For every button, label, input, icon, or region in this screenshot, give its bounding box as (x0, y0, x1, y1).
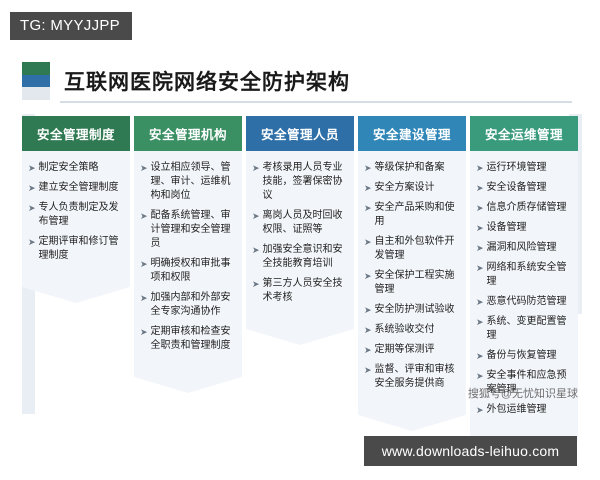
list-item: ➤安全设备管理 (476, 181, 572, 195)
list-item-label: 配备系统管理、审计管理和安全管理员 (151, 209, 236, 251)
chevron-right-icon: ➤ (364, 303, 372, 317)
title-color-mark-icon (22, 62, 50, 100)
column-header: 安全管理机构 (134, 116, 242, 151)
list-item-label: 恶意代码防范管理 (487, 295, 572, 309)
chevron-right-icon: ➤ (364, 201, 372, 215)
column-header: 安全运维管理 (470, 116, 578, 151)
list-item: ➤考核录用人员专业技能，签署保密协议 (252, 161, 348, 203)
chevron-right-icon: ➤ (364, 181, 372, 195)
column-security-management-system: 安全管理制度 ➤制定安全策略 ➤建立安全管理制度 ➤专人负责制定及发布管理 ➤定… (22, 116, 130, 457)
source-credit: 搜狐号@无忧知识星球 (468, 385, 578, 401)
list-item: ➤安全保护工程实施管理 (364, 269, 460, 297)
list-item: ➤加强内部和外部安全专家沟通协作 (140, 291, 236, 319)
list-item: ➤设立相应领导、管理、审计、运维机构和岗位 (140, 161, 236, 203)
list-item-label: 监督、评审和审核安全服务提供商 (375, 363, 460, 391)
list-item-label: 外包运维管理 (487, 403, 572, 417)
list-item: ➤信息介质存储管理 (476, 201, 572, 215)
chevron-right-icon: ➤ (476, 221, 484, 235)
chevron-right-icon: ➤ (476, 403, 484, 417)
list-item-label: 专人负责制定及发布管理 (39, 201, 124, 229)
chevron-right-icon: ➤ (140, 209, 148, 223)
list-item: ➤定期审核和检查安全职责和管理制度 (140, 325, 236, 353)
chevron-right-icon: ➤ (252, 277, 260, 291)
chevron-right-icon: ➤ (364, 269, 372, 283)
column-security-construction-management: 安全建设管理 ➤等级保护和备案 ➤安全方案设计 ➤安全产品采购和使用 ➤自主和外… (358, 116, 466, 457)
list-item: ➤定期等保测评 (364, 343, 460, 357)
chevron-right-icon: ➤ (364, 343, 372, 357)
chevron-right-icon: ➤ (252, 161, 260, 175)
list-item: ➤加强安全意识和安全技能教育培训 (252, 243, 348, 271)
chevron-right-icon: ➤ (28, 181, 36, 195)
list-item: ➤漏洞和风险管理 (476, 241, 572, 255)
chevron-right-icon: ➤ (140, 161, 148, 175)
list-item-label: 系统验收交付 (375, 323, 460, 337)
column-body: ➤设立相应领导、管理、审计、运维机构和岗位 ➤配备系统管理、审计管理和安全管理员… (134, 151, 242, 377)
list-item-label: 安全防护测试验收 (375, 303, 460, 317)
chevron-right-icon: ➤ (364, 161, 372, 175)
list-item-label: 制定安全策略 (39, 161, 124, 175)
chevron-right-icon: ➤ (364, 323, 372, 337)
list-item-label: 定期审核和检查安全职责和管理制度 (151, 325, 236, 353)
list-item-label: 安全产品采购和使用 (375, 201, 460, 229)
list-item-label: 建立安全管理制度 (39, 181, 124, 195)
chevron-right-icon: ➤ (28, 201, 36, 215)
title-divider (60, 101, 572, 103)
chevron-right-icon: ➤ (140, 257, 148, 271)
list-item-label: 网络和系统安全管理 (487, 261, 572, 289)
page-title: 互联网医院网络安全防护架构 (64, 66, 350, 96)
list-item-label: 设备管理 (487, 221, 572, 235)
list-item: ➤配备系统管理、审计管理和安全管理员 (140, 209, 236, 251)
chevron-right-icon: ➤ (476, 261, 484, 275)
list-item: ➤安全防护测试验收 (364, 303, 460, 317)
chevron-right-icon: ➤ (476, 369, 484, 383)
list-item-label: 备份与恢复管理 (487, 349, 572, 363)
list-item-label: 漏洞和风险管理 (487, 241, 572, 255)
list-item-label: 加强内部和外部安全专家沟通协作 (151, 291, 236, 319)
list-item-label: 考核录用人员专业技能，签署保密协议 (263, 161, 348, 203)
list-item-label: 系统、变更配置管理 (487, 315, 572, 343)
chevron-right-icon: ➤ (252, 243, 260, 257)
list-item-label: 设立相应领导、管理、审计、运维机构和岗位 (151, 161, 236, 203)
list-item: ➤专人负责制定及发布管理 (28, 201, 124, 229)
architecture-columns: 安全管理制度 ➤制定安全策略 ➤建立安全管理制度 ➤专人负责制定及发布管理 ➤定… (22, 116, 578, 457)
list-item: ➤外包运维管理 (476, 403, 572, 417)
chevron-right-icon: ➤ (476, 315, 484, 329)
chevron-right-icon: ➤ (252, 209, 260, 223)
column-arrow-point (246, 329, 354, 345)
chevron-right-icon: ➤ (364, 363, 372, 377)
list-item-label: 运行环境管理 (487, 161, 572, 175)
list-item: ➤设备管理 (476, 221, 572, 235)
list-item: ➤制定安全策略 (28, 161, 124, 175)
telegram-watermark-label: TG: MYYJJPP (20, 17, 120, 34)
chevron-right-icon: ➤ (140, 291, 148, 305)
list-item-label: 明确授权和审批事项和权限 (151, 257, 236, 285)
column-arrow-point (22, 287, 130, 303)
list-item: ➤定期评审和修订管理制度 (28, 235, 124, 263)
telegram-watermark-badge: TG: MYYJJPP (10, 12, 132, 40)
list-item: ➤网络和系统安全管理 (476, 261, 572, 289)
chevron-right-icon: ➤ (476, 349, 484, 363)
list-item-label: 安全保护工程实施管理 (375, 269, 460, 297)
list-item: ➤系统、变更配置管理 (476, 315, 572, 343)
column-body: ➤等级保护和备案 ➤安全方案设计 ➤安全产品采购和使用 ➤自主和外包软件开发管理… (358, 151, 466, 415)
column-body: ➤考核录用人员专业技能，签署保密协议 ➤离岗人员及时回收权限、证照等 ➤加强安全… (246, 151, 354, 329)
list-item-label: 定期评审和修订管理制度 (39, 235, 124, 263)
list-item: ➤离岗人员及时回收权限、证照等 (252, 209, 348, 237)
column-header: 安全建设管理 (358, 116, 466, 151)
chevron-right-icon: ➤ (476, 241, 484, 255)
list-item-label: 信息介质存储管理 (487, 201, 572, 215)
column-header: 安全管理人员 (246, 116, 354, 151)
list-item: ➤建立安全管理制度 (28, 181, 124, 195)
list-item: ➤安全产品采购和使用 (364, 201, 460, 229)
chevron-right-icon: ➤ (476, 181, 484, 195)
column-security-management-personnel: 安全管理人员 ➤考核录用人员专业技能，签署保密协议 ➤离岗人员及时回收权限、证照… (246, 116, 354, 457)
list-item-label: 离岗人员及时回收权限、证照等 (263, 209, 348, 237)
list-item: ➤等级保护和备案 (364, 161, 460, 175)
diagram-title: 互联网医院网络安全防护架构 (22, 62, 350, 100)
list-item: ➤恶意代码防范管理 (476, 295, 572, 309)
url-watermark-label: www.downloads-leihuo.com (382, 443, 560, 459)
list-item: ➤备份与恢复管理 (476, 349, 572, 363)
chevron-right-icon: ➤ (476, 161, 484, 175)
list-item: ➤监督、评审和审核安全服务提供商 (364, 363, 460, 391)
column-arrow-point (358, 415, 466, 431)
list-item-label: 安全设备管理 (487, 181, 572, 195)
chevron-right-icon: ➤ (28, 161, 36, 175)
list-item-label: 第三方人员安全技术考核 (263, 277, 348, 305)
list-item: ➤明确授权和审批事项和权限 (140, 257, 236, 285)
list-item-label: 自主和外包软件开发管理 (375, 235, 460, 263)
list-item: ➤运行环境管理 (476, 161, 572, 175)
chevron-right-icon: ➤ (364, 235, 372, 249)
list-item: ➤安全方案设计 (364, 181, 460, 195)
list-item: ➤系统验收交付 (364, 323, 460, 337)
chevron-right-icon: ➤ (476, 201, 484, 215)
column-header: 安全管理制度 (22, 116, 130, 151)
list-item: ➤自主和外包软件开发管理 (364, 235, 460, 263)
chevron-right-icon: ➤ (140, 325, 148, 339)
column-body: ➤制定安全策略 ➤建立安全管理制度 ➤专人负责制定及发布管理 ➤定期评审和修订管… (22, 151, 130, 287)
url-watermark-bar: www.downloads-leihuo.com (364, 436, 577, 466)
list-item-label: 安全方案设计 (375, 181, 460, 195)
list-item-label: 等级保护和备案 (375, 161, 460, 175)
column-security-management-organization: 安全管理机构 ➤设立相应领导、管理、审计、运维机构和岗位 ➤配备系统管理、审计管… (134, 116, 242, 457)
list-item: ➤第三方人员安全技术考核 (252, 277, 348, 305)
column-arrow-point (134, 377, 242, 393)
chevron-right-icon: ➤ (28, 235, 36, 249)
chevron-right-icon: ➤ (476, 295, 484, 309)
column-security-operations-management: 安全运维管理 ➤运行环境管理 ➤安全设备管理 ➤信息介质存储管理 ➤设备管理 ➤… (470, 116, 578, 457)
list-item-label: 加强安全意识和安全技能教育培训 (263, 243, 348, 271)
list-item-label: 定期等保测评 (375, 343, 460, 357)
